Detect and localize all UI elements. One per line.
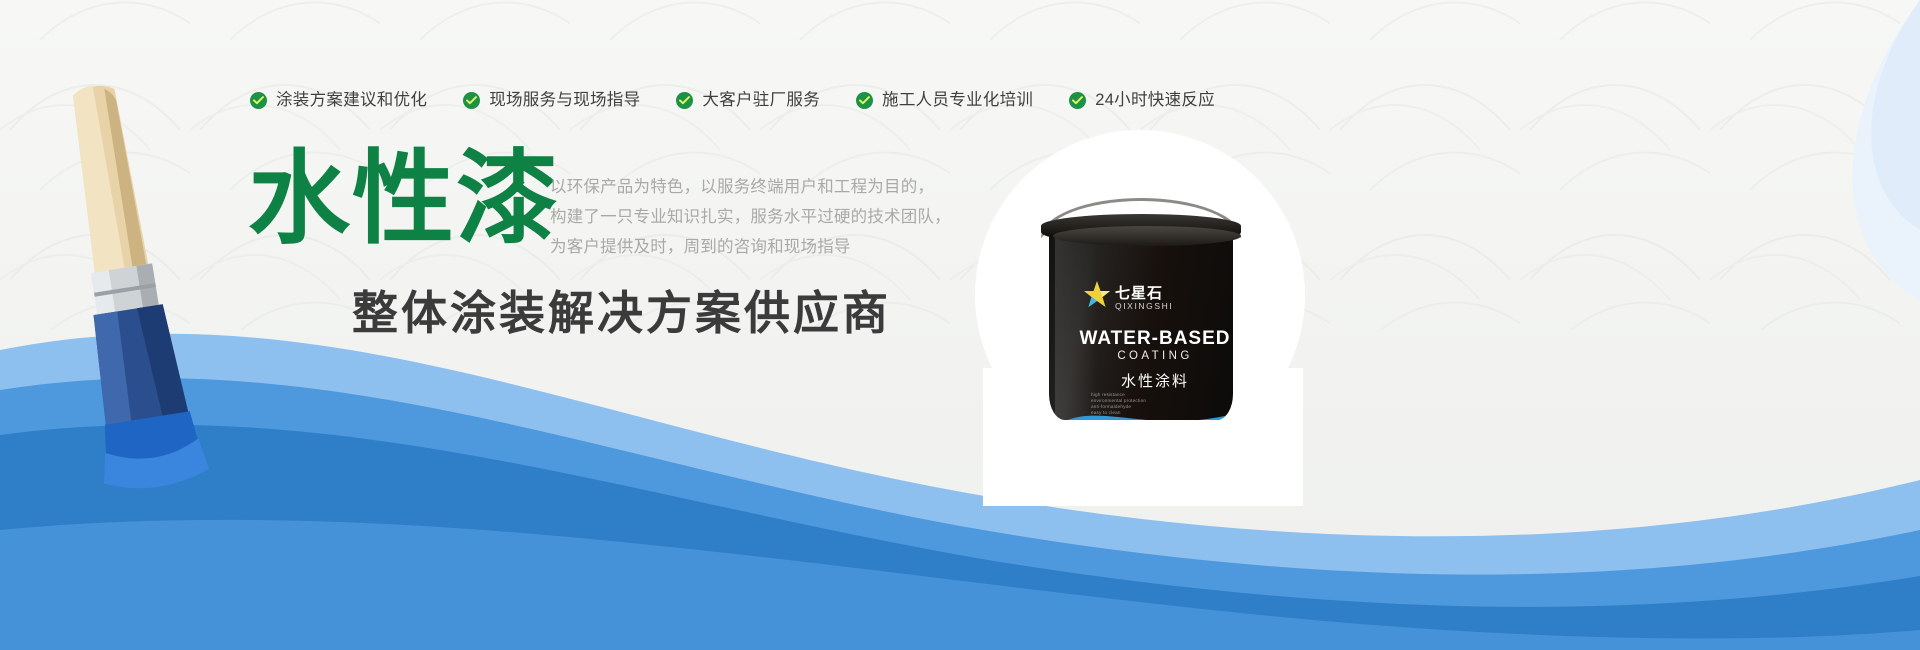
feature-list: 涂装方案建议和优化 现场服务与现场指导 大客户驻厂服务 施工人员专业化培训 24…: [250, 84, 1215, 116]
feature-label: 现场服务与现场指导: [489, 92, 640, 109]
product-image: 七星石 QIXINGSHI WATER-BASED COATING 水性涂料 h…: [975, 130, 1330, 460]
description-line: 构建了一只专业知识扎实，服务水平过硬的技术团队，: [550, 202, 950, 232]
product-title-cn: 水性涂料: [1049, 370, 1233, 391]
feature-item-3[interactable]: 大客户驻厂服务: [676, 92, 820, 109]
product-subtitle-en: COATING: [1049, 350, 1233, 362]
bucket-lid: [1041, 214, 1241, 244]
page-title: 水性漆: [248, 148, 560, 250]
star-logo-icon: [1083, 280, 1111, 317]
bucket-lid-top: [1053, 226, 1241, 246]
check-circle-icon: [1069, 92, 1086, 109]
feature-label: 大客户驻厂服务: [702, 92, 820, 109]
brand-name-en: QIXINGSHI: [1115, 301, 1173, 311]
feature-item-5[interactable]: 24小时快速反应: [1069, 92, 1215, 109]
description-block: 以环保产品为特色，以服务终端用户和工程为目的， 构建了一只专业知识扎实，服务水平…: [550, 172, 950, 262]
feature-label: 24小时快速反应: [1095, 92, 1215, 109]
feature-item-2[interactable]: 现场服务与现场指导: [463, 92, 640, 109]
bucket-body: 七星石 QIXINGSHI WATER-BASED COATING 水性涂料 h…: [1049, 224, 1233, 420]
rainbow-wave-graphic: [1063, 396, 1233, 420]
paint-brush-icon: [40, 78, 260, 498]
product-title-en: WATER-BASED: [1049, 328, 1233, 350]
paint-bucket: 七星石 QIXINGSHI WATER-BASED COATING 水性涂料 h…: [1035, 196, 1247, 436]
check-circle-icon: [463, 92, 480, 109]
feature-label: 涂装方案建议和优化: [276, 92, 427, 109]
description-line: 为客户提供及时，周到的咨询和现场指导: [550, 232, 950, 262]
check-circle-icon: [250, 92, 267, 109]
subtitle: 整体涂装解决方案供应商: [352, 288, 891, 339]
feature-item-4[interactable]: 施工人员专业化培训: [856, 92, 1033, 109]
description-line: 以环保产品为特色，以服务终端用户和工程为目的，: [550, 172, 950, 202]
brand-name-cn: 七星石: [1115, 282, 1163, 303]
promo-banner: 涂装方案建议和优化 现场服务与现场指导 大客户驻厂服务 施工人员专业化培训 24…: [0, 0, 1920, 650]
feature-item-1[interactable]: 涂装方案建议和优化: [250, 92, 427, 109]
feature-label: 施工人员专业化培训: [882, 92, 1033, 109]
blue-wave-shape: [0, 230, 1920, 650]
check-circle-icon: [676, 92, 693, 109]
check-circle-icon: [856, 92, 873, 109]
